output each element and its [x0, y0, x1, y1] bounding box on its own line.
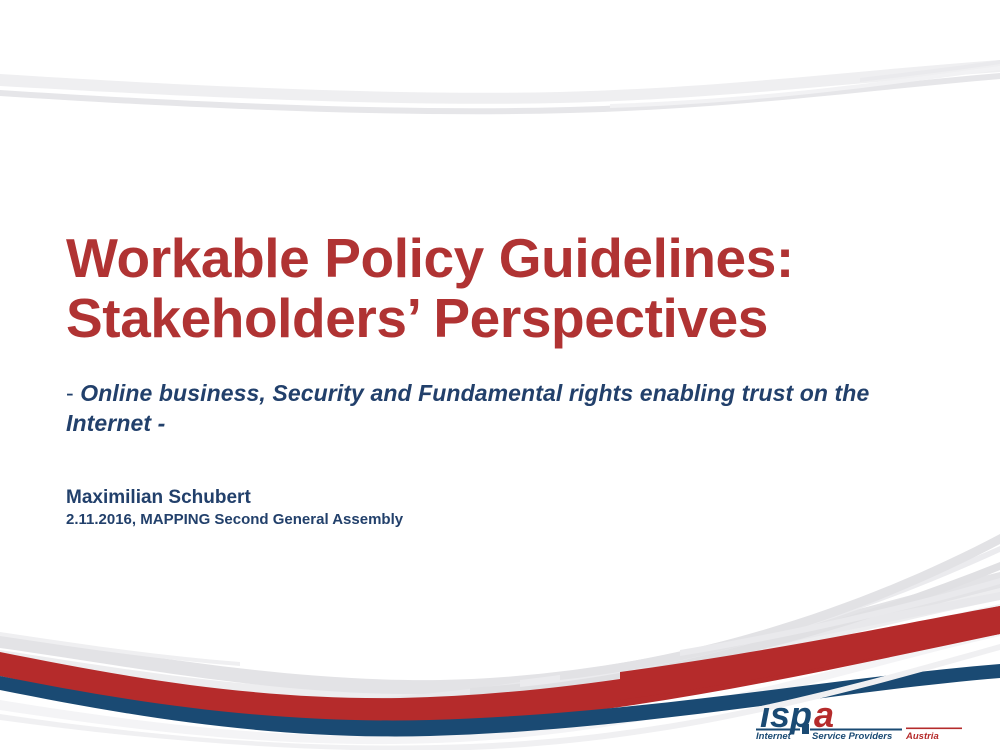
- page-title: Workable Policy Guidelines: Stakeholders…: [66, 228, 946, 348]
- bottom-gray-hairline-3: [680, 578, 1000, 656]
- top-wave-hairline-2: [860, 60, 1000, 82]
- logo-tagline-austria: Austria: [905, 731, 939, 742]
- bottom-gray-band-5: [330, 592, 1000, 710]
- author-event-meta: 2.11.2016, MAPPING Second General Assemb…: [66, 510, 946, 530]
- bottom-red-band-overlap: [620, 606, 1000, 700]
- bottom-gray-band-1: [0, 586, 1000, 704]
- slide-text-content: Workable Policy Guidelines: Stakeholders…: [66, 228, 946, 530]
- logo-divider-block: [802, 724, 809, 734]
- subtitle-lead-dash: -: [66, 380, 80, 406]
- ispa-logo: isp a Internet Service Providers Austria: [748, 694, 970, 742]
- author-name: Maximilian Schubert: [66, 486, 946, 510]
- top-wave-hairline: [610, 66, 1000, 108]
- top-wave-band-2: [0, 73, 1000, 114]
- logo-tagline-internet: Internet: [756, 731, 792, 742]
- bottom-gray-band-6: [470, 562, 1000, 696]
- subtitle-text: Online business, Security and Fundamenta…: [66, 380, 869, 436]
- bottom-gray-band-8: [560, 534, 1000, 680]
- bottom-gray-band-4: [0, 572, 1000, 694]
- logo-rule-right: [906, 728, 962, 730]
- top-wave-band-1: [0, 60, 1000, 104]
- logo-tagline-service-providers: Service Providers: [812, 731, 892, 742]
- author-block: Maximilian Schubert 2.11.2016, MAPPING S…: [66, 438, 946, 530]
- bottom-gray-hairline-2: [0, 632, 240, 666]
- slide-subtitle: - Online business, Security and Fundamen…: [66, 348, 946, 438]
- bottom-gray-band-7: [520, 546, 1000, 687]
- presentation-slide: Workable Policy Guidelines: Stakeholders…: [0, 0, 1000, 750]
